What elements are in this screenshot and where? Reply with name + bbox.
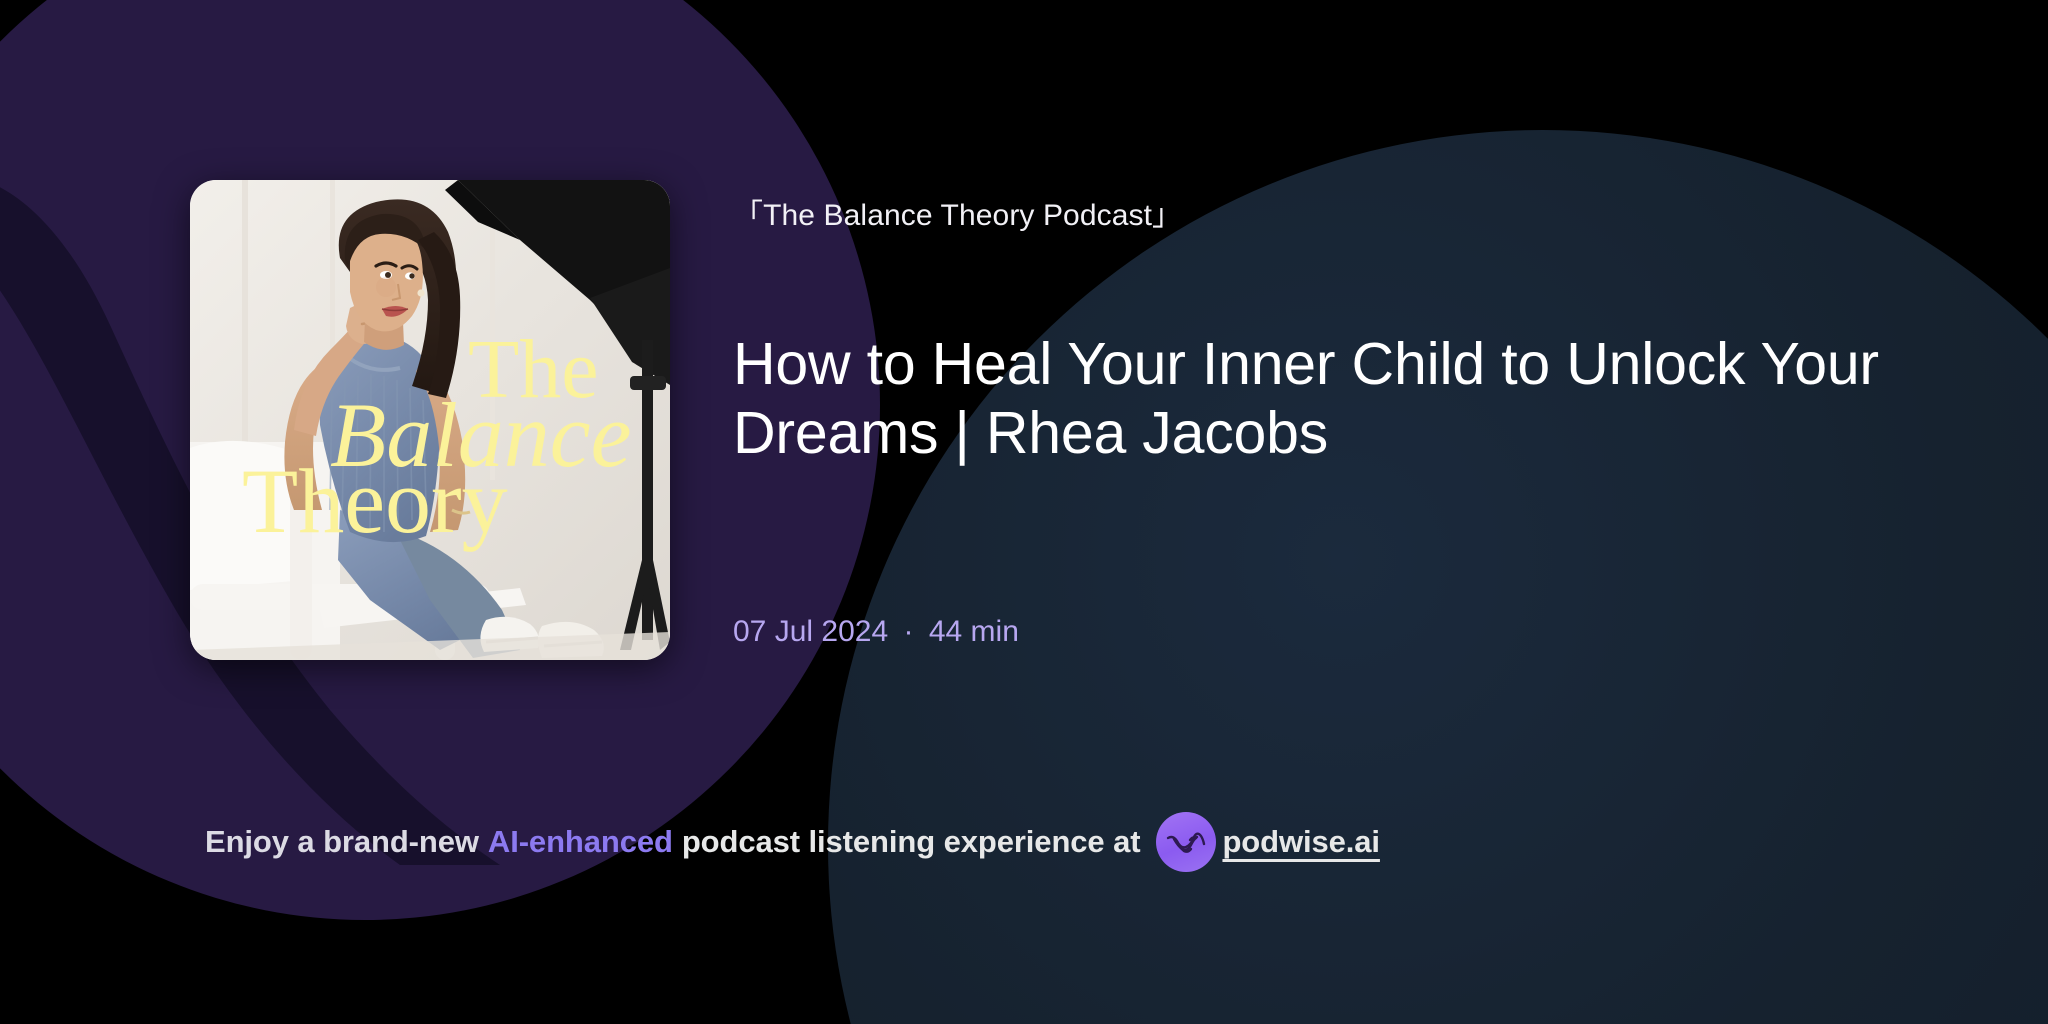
podwise-waveform-icon (1156, 812, 1216, 872)
cover-artwork-scene (190, 180, 670, 660)
episode-meta: 07 Jul 2024 · 44 min (733, 615, 1019, 649)
footer-tagline: Enjoy a brand-new AI-enhanced podcast li… (205, 812, 1380, 872)
podcast-cover-image[interactable]: The Balance Theory (190, 180, 670, 660)
tagline-part-2: podcast listening experience at (682, 824, 1141, 860)
podwise-brand-link[interactable]: podwise.ai (1156, 812, 1379, 872)
podwise-brand-name[interactable]: podwise.ai (1222, 824, 1379, 860)
tagline-accent: AI-enhanced (488, 824, 673, 860)
episode-duration: 44 min (929, 615, 1019, 648)
meta-separator: · (896, 615, 920, 648)
tagline-part-1: Enjoy a brand-new (205, 824, 479, 860)
episode-date: 07 Jul 2024 (733, 615, 888, 648)
episode-title: How to Heal Your Inner Child to Unlock Y… (733, 330, 1973, 468)
podcast-show-name: 「The Balance Theory Podcast」 (733, 190, 1182, 234)
